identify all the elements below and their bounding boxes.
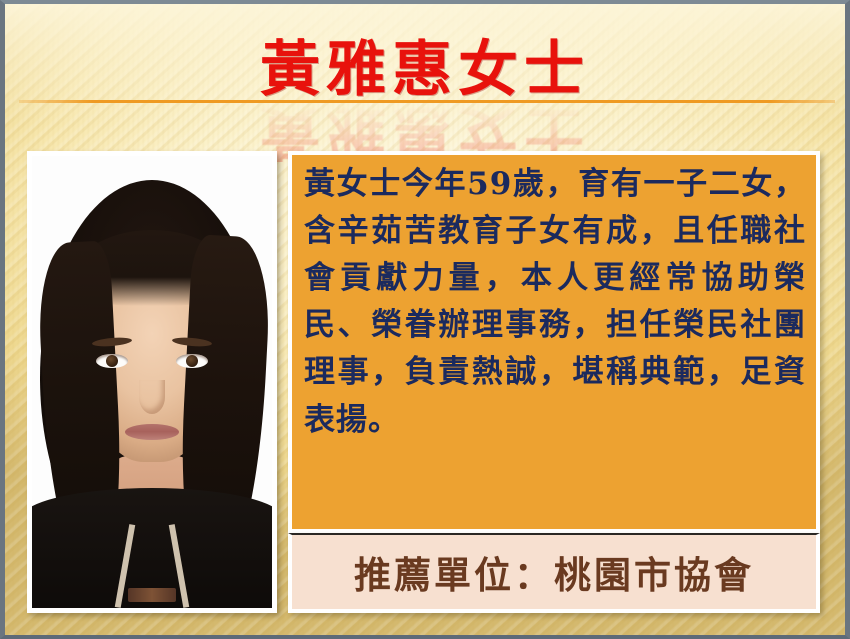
photo-pupil-left xyxy=(106,355,118,367)
title-divider-rule xyxy=(19,100,835,103)
portrait-photo-frame xyxy=(27,151,277,613)
photo-mouth xyxy=(125,424,179,440)
photo-eye-right xyxy=(176,354,208,368)
recommending-unit-bar: 推薦單位：桃園市協會 xyxy=(288,533,820,613)
recommending-unit-text: 推薦單位：桃園市協會 xyxy=(354,545,754,599)
content-column: 黃女士今年59歲，育有一子二女，含辛茹苦教育子女有成，且任職社會貢獻力量，本人更… xyxy=(288,151,820,613)
photo-eye-left xyxy=(96,354,128,368)
biography-text: 黃女士今年59歲，育有一子二女，含辛茹苦教育子女有成，且任職社會貢獻力量，本人更… xyxy=(304,161,806,444)
photo-garment-trim xyxy=(128,588,176,602)
photo-clothing xyxy=(32,488,272,608)
portrait-photo xyxy=(32,156,272,608)
photo-nose xyxy=(139,380,165,414)
slide-canvas: 黃雅惠女士 黃雅惠女士 xyxy=(0,0,850,639)
biography-panel: 黃女士今年59歲，育有一子二女，含辛茹苦教育子女有成，且任職社會貢獻力量，本人更… xyxy=(288,151,820,533)
background-top-highlight xyxy=(5,4,845,124)
photo-pupil-right xyxy=(186,355,198,367)
